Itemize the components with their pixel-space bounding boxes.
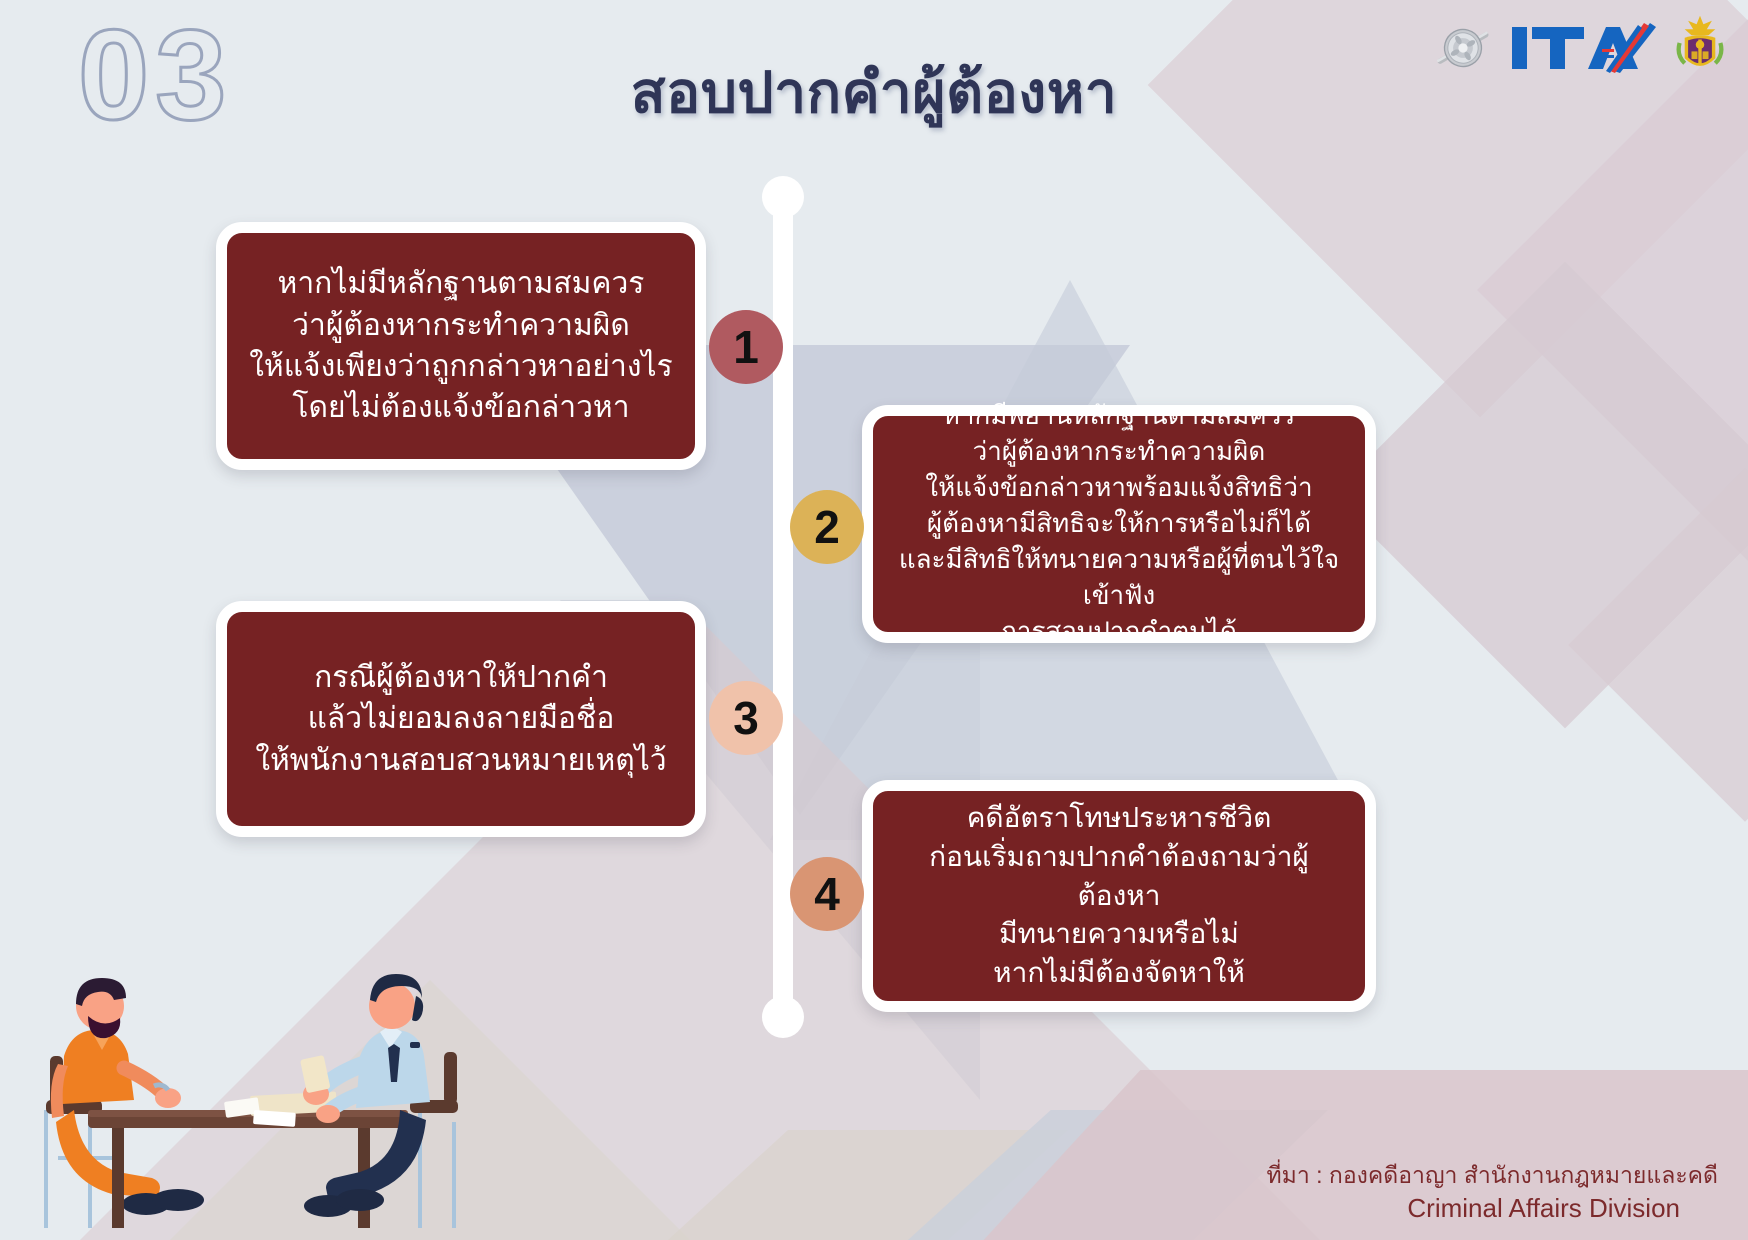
step-card-1-text: หากไม่มีหลักฐานตามสมควรว่าผู้ต้องหากระทำ… xyxy=(249,263,672,429)
source-attribution: ที่มา : กองคดีอาญา สำนักงานกฎหมายและคดี … xyxy=(1267,1160,1718,1226)
interrogation-scene-illustration xyxy=(28,960,458,1240)
infographic-slide: 03 สอบปากคำผู้ต้องหา xyxy=(0,0,1748,1240)
timeline-dot-bottom xyxy=(762,996,804,1038)
bg-diamond-4 xyxy=(1568,468,1748,822)
bg-diamond-3 xyxy=(1332,262,1748,729)
step-card-2[interactable]: หากมีพยานหลักฐานตามสมควรว่าผู้ต้องหากระท… xyxy=(862,405,1376,643)
ita-logo-icon xyxy=(1510,19,1660,77)
step-badge-1[interactable]: 1 xyxy=(709,310,783,384)
step-badge-4[interactable]: 4 xyxy=(790,857,864,931)
officer-figure xyxy=(300,974,458,1228)
step-card-1[interactable]: หากไม่มีหลักฐานตามสมควรว่าผู้ต้องหากระทำ… xyxy=(216,222,706,470)
bg-footer-band-gray xyxy=(908,1110,1328,1240)
source-english: Criminal Affairs Division xyxy=(1267,1191,1718,1226)
step-badge-3[interactable]: 3 xyxy=(709,681,783,755)
step-card-4-text: คดีอัตราโทษประหารชีวิตก่อนเริ่มถามปากคำต… xyxy=(895,799,1343,992)
step-card-3-text: กรณีผู้ต้องหาให้ปากคำแล้วไม่ยอมลงลายมือช… xyxy=(255,657,666,781)
suspect-figure xyxy=(46,978,204,1228)
silver-emblem-icon xyxy=(1430,15,1496,81)
royal-crest-icon xyxy=(1674,14,1726,82)
step-card-3[interactable]: กรณีผู้ต้องหาให้ปากคำแล้วไม่ยอมลงลายมือช… xyxy=(216,601,706,837)
logo-row xyxy=(1430,14,1726,82)
step-card-4[interactable]: คดีอัตราโทษประหารชีวิตก่อนเริ่มถามปากคำต… xyxy=(862,780,1376,1012)
step-badge-2[interactable]: 2 xyxy=(790,490,864,564)
bg-footer-band-beige xyxy=(668,1130,1068,1240)
timeline-dot-top xyxy=(762,176,804,218)
step-card-2-text: หากมีพยานหลักฐานตามสมควรว่าผู้ต้องหากระท… xyxy=(895,398,1343,649)
source-thai: ที่มา : กองคดีอาญา สำนักงานกฎหมายและคดี xyxy=(1267,1160,1718,1191)
